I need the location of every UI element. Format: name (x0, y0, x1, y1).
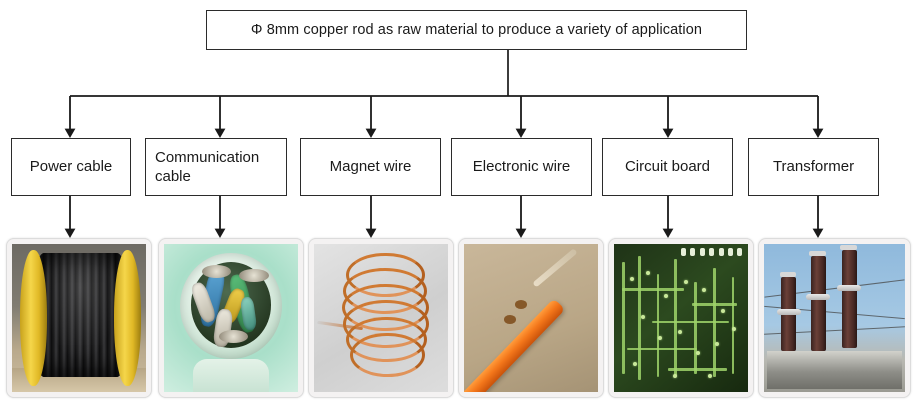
photo-detail-bushing-cap (840, 245, 857, 249)
category-label: Electronic wire (464, 157, 580, 176)
photo-detail-wire-mark-1 (504, 315, 516, 324)
photo-detail-conductor-tip-1 (202, 265, 231, 278)
photo-detail-steel-base (767, 351, 902, 389)
photo-frame-magnet-wire (308, 238, 454, 398)
photo-detail-trace (622, 288, 684, 291)
category-box-electronic-wire[interactable]: Electronic wire (451, 138, 592, 196)
photo-detail-connector-hole (719, 248, 724, 256)
photo-detail-solder-pad (641, 315, 645, 319)
photo-detail-solder-pad (715, 342, 719, 346)
photo-detail-bushing-skirt (806, 294, 830, 300)
photo-detail-bushing-skirt (837, 285, 861, 291)
flowchart-diagram: Φ 8mm copper rod as raw material to prod… (0, 0, 917, 407)
photo-transformer (764, 244, 905, 392)
photo-detail-connector-hole (737, 248, 742, 256)
photo-magnet-wire (314, 244, 448, 392)
root-node-box: Φ 8mm copper rod as raw material to prod… (206, 10, 747, 50)
photo-detail-trace (622, 262, 625, 374)
photo-detail-stripped-conductor (533, 248, 578, 287)
photo-circuit-board (614, 244, 748, 392)
photo-frame-electronic-wire (458, 238, 604, 398)
photo-detail-solder-pad (721, 309, 725, 313)
photo-detail-coil-ring (350, 333, 424, 377)
photo-detail-solder-pad (684, 280, 688, 284)
photo-detail-trace (674, 259, 677, 377)
photo-detail-bushing-cap (809, 251, 826, 255)
photo-detail-reel-flange-right (114, 250, 141, 386)
photo-detail-connector-hole (728, 248, 733, 256)
photo-detail-solder-pad (732, 327, 736, 331)
photo-detail-trace (638, 256, 641, 380)
photo-detail-bushing-right (842, 250, 858, 348)
photo-detail-connector-hole (681, 248, 686, 256)
photo-detail-cable-coil (35, 253, 126, 377)
photo-detail-solder-pad (708, 374, 712, 378)
photo-detail-wire-mark-2 (515, 300, 527, 309)
photo-detail-bushing-middle (811, 256, 827, 351)
category-box-circuit-board[interactable]: Circuit board (602, 138, 733, 196)
photo-frame-communication-cable (158, 238, 304, 398)
photo-detail-solder-pad (678, 330, 682, 334)
photo-detail-solder-pad (696, 351, 700, 355)
photo-detail-solder-pad (702, 288, 706, 292)
photo-detail-solder-pad (658, 336, 662, 340)
photo-detail-bushing-cap (780, 272, 797, 276)
category-label: Power cable (21, 157, 122, 176)
photo-detail-jacket-body (193, 359, 268, 392)
root-node-label: Φ 8mm copper rod as raw material to prod… (251, 22, 702, 38)
photo-frame-power-cable (6, 238, 152, 398)
photo-detail-reel-flange-left (20, 250, 47, 386)
photo-detail-trace (692, 303, 738, 306)
photo-communication-cable (164, 244, 298, 392)
category-box-power-cable[interactable]: Power cable (11, 138, 131, 196)
photo-detail-trace (694, 282, 697, 374)
photo-detail-trace (668, 368, 727, 371)
photo-detail-trace (652, 321, 730, 324)
photo-detail-connector-hole (700, 248, 705, 256)
photo-detail-solder-pad (633, 362, 637, 366)
photo-detail-connector-hole (709, 248, 714, 256)
photo-detail-solder-pad (646, 271, 650, 275)
category-box-magnet-wire[interactable]: Magnet wire (300, 138, 441, 196)
category-box-transformer[interactable]: Transformer (748, 138, 879, 196)
photo-detail-bushing-skirt (777, 309, 801, 315)
photo-detail-solder-pad (664, 294, 668, 298)
photo-power-cable (12, 244, 146, 392)
photo-detail-orange-insulation (464, 298, 566, 392)
photo-detail-solder-pad (673, 374, 677, 378)
category-label: Magnet wire (321, 157, 421, 176)
photo-electronic-wire (464, 244, 598, 392)
category-label: Circuit board (616, 157, 719, 176)
photo-detail-trace (732, 277, 735, 375)
photo-detail-connector-hole (690, 248, 695, 256)
category-label: Communication cable (146, 148, 286, 186)
photo-detail-trace (627, 348, 697, 351)
category-label: Transformer (764, 157, 863, 176)
photo-detail-solder-pad (630, 277, 634, 281)
category-box-communication-cable[interactable]: Communication cable (145, 138, 287, 196)
photo-frame-transformer (758, 238, 911, 398)
photo-frame-circuit-board (608, 238, 754, 398)
